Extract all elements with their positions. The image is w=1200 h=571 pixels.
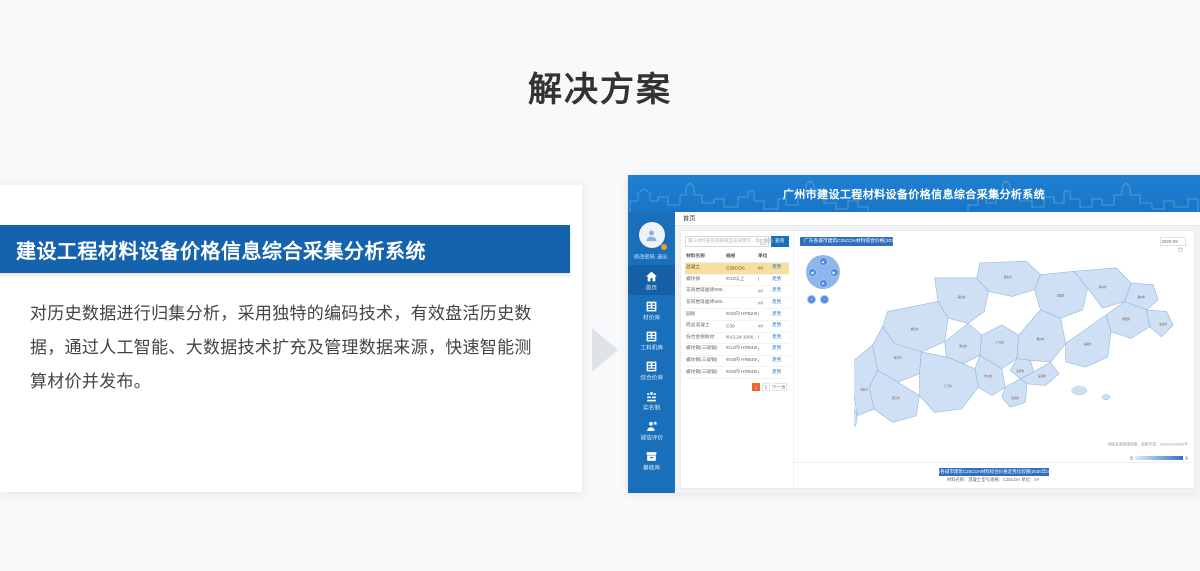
svg-text:中山市: 中山市: [985, 374, 993, 378]
svg-text:深圳市: 深圳市: [1038, 374, 1046, 378]
svg-text:汕尾市: 汕尾市: [1084, 342, 1092, 346]
table-row[interactable]: 花岗岩等面砖500... m² 走势: [685, 297, 789, 309]
sidebar-label-labor-material-machine: 工料机库: [640, 344, 663, 352]
avatar[interactable]: [628, 222, 675, 248]
svg-text:茂名市: 茂名市: [860, 388, 868, 392]
table-row[interactable]: 螺纹钢 Φ12以上 t 走势: [685, 274, 789, 286]
logout-link[interactable]: 退出: [657, 253, 667, 261]
sidebar-item-labor-material-machine[interactable]: 工料机库: [628, 325, 675, 355]
table-row[interactable]: 商品混凝土 C30 m³ 走势: [685, 320, 789, 332]
cell-unit: t: [757, 367, 772, 379]
svg-text:河源市: 河源市: [1057, 293, 1065, 297]
cell-name: 螺纹钢(三级钢): [685, 367, 725, 379]
map-pan-right-button[interactable]: ▶: [830, 268, 839, 277]
notification-badge: [661, 244, 667, 250]
page-2-button[interactable]: 2: [762, 383, 770, 391]
database-icon: [645, 300, 658, 313]
col-material-name: 材料名称: [685, 251, 725, 263]
svg-text:珠海市: 珠海市: [1011, 396, 1019, 400]
map-pan-left-button[interactable]: ◀: [808, 268, 817, 277]
search-placeholder: 输入材料名称或规格型号关键字，如：钢筋: [688, 238, 773, 244]
svg-text:潮州市: 潮州市: [1137, 295, 1145, 299]
cell-unit: m³: [757, 263, 772, 275]
svg-text:云浮市: 云浮市: [894, 356, 902, 360]
sidebar-label-base-library: 基础库: [643, 464, 660, 472]
cell-spec: C30: [725, 320, 757, 332]
material-table: 材料名称 规格 单位 混凝土 C25COA m³ 走势: [685, 251, 789, 379]
archive-icon: [645, 450, 658, 463]
search-row: 输入材料名称或规格型号关键字，如：钢筋 查询: [685, 236, 789, 247]
cell-trend-link[interactable]: 走势: [771, 297, 789, 309]
sidebar-label-composite-price: 综合价库: [640, 374, 663, 382]
solution-card-description: 对历史数据进行归集分析，采用独特的编码技术，有效盘活历史数据，通过人工智能、大数…: [30, 297, 548, 399]
cell-name: 低合金钢板材: [685, 332, 725, 344]
sidebar-item-credit-evaluation[interactable]: 诚信评价: [628, 415, 675, 445]
cell-unit: m²: [757, 286, 772, 298]
fingerprint-icon: [645, 390, 658, 403]
sidebar-item-real-name-system[interactable]: 实名制: [628, 385, 675, 415]
cell-name: 商品混凝土: [685, 320, 725, 332]
cell-unit: m²: [757, 297, 772, 309]
meta-spec: 型号规格：C25COA: [981, 477, 1019, 483]
tabbar: 首页: [675, 212, 1200, 226]
map-title: 广东各城市建筑C25COA材料综合价格(2020年09月): [800, 237, 893, 246]
cell-name: 混凝土: [685, 263, 725, 275]
table-row[interactable]: 螺纹钢(三级钢) Φ12内 HRB400 t 走势: [685, 344, 789, 356]
meta-material-name: 材料名称：混凝土: [947, 477, 981, 483]
cell-trend-link[interactable]: 走势: [771, 320, 789, 332]
cell-trend-link[interactable]: 走势: [771, 263, 789, 275]
legend-high-label: 高: [1185, 455, 1188, 460]
app-screenshot: 广州市建设工程材料设备价格信息综合采集分析系统 修改密码 退出: [628, 175, 1200, 493]
app-header-title: 广州市建设工程材料设备价格信息综合采集分析系统: [628, 175, 1200, 212]
table-row[interactable]: 螺纹钢(三级钢) Φ18内 HRB400 t 走势: [685, 355, 789, 367]
user-icon: [644, 228, 659, 243]
legend-low-label: 低: [1130, 455, 1133, 460]
bottom-summary-strip: 广东各城市建筑C25COA材料综合价格走势比较图(2020年09月) 材料名称：…: [794, 462, 1194, 488]
sidebar-item-composite-price[interactable]: 综合价库: [628, 355, 675, 385]
table-row[interactable]: 花岗岩等面砖500... m² 走势: [685, 286, 789, 298]
arrow-right-icon: [592, 328, 618, 372]
cell-name: 螺纹钢(三级钢): [685, 355, 725, 367]
next-page-button[interactable]: 下一页: [772, 383, 787, 391]
map-nav-pad: ▲ ▼ ◀ ▶ + −: [806, 255, 840, 289]
home-icon: [645, 270, 658, 283]
page-1-button[interactable]: 1: [752, 383, 760, 391]
material-list-column: 输入材料名称或规格型号关键字，如：钢筋 查询 材料名称 规格: [681, 231, 793, 488]
cell-spec: Φ13.24 1000...: [725, 332, 757, 344]
table-row[interactable]: 混凝土 C25COA m³ 走势: [685, 263, 789, 275]
cell-spec: Φ12以上: [725, 274, 757, 286]
app-header: 广州市建设工程材料设备价格信息综合采集分析系统: [628, 175, 1200, 212]
svg-text:佛山市: 佛山市: [959, 344, 967, 348]
meta-unit: 单位：m³: [1022, 477, 1040, 483]
svg-text:清远市: 清远市: [958, 295, 966, 299]
cell-name: 圆钢: [685, 309, 725, 321]
database-icon: [645, 360, 658, 373]
cell-spec: Φ10内 HPB235: [725, 309, 757, 321]
sidebar-label-home: 首页: [646, 284, 657, 292]
calendar-icon: [1178, 239, 1183, 244]
cell-unit: m³: [757, 320, 772, 332]
date-value: 2020-09: [1161, 239, 1177, 244]
table-row[interactable]: 低合金钢板材 Φ13.24 1000... t 走势: [685, 332, 789, 344]
svg-text:广州市: 广州市: [996, 341, 1004, 345]
cell-trend-link[interactable]: 走势: [771, 309, 789, 321]
col-action: [771, 251, 789, 263]
trend-chart-meta: 材料名称：混凝土 型号规格：C25COA 单位：m³: [950, 478, 1038, 483]
cell-name: 花岗岩等面砖500...: [685, 297, 725, 309]
legend-gradient: [1135, 456, 1183, 460]
cell-spec: Φ12内 HRB400: [725, 344, 757, 356]
trend-chart-title: 广东各城市建筑C25COA材料综合价格走势比较图(2020年09月): [939, 468, 1050, 476]
cell-name: 螺纹钢: [685, 274, 725, 286]
page-title: 解决方案: [0, 62, 1200, 111]
cell-spec: [725, 297, 757, 309]
guangdong-map[interactable]: 韶关市 清远市 河源市 梅州市 潮州市 肇庆市 揭阳市 汕头市 佛山市 广州市: [854, 247, 1190, 440]
cell-trend-link[interactable]: 走势: [771, 332, 789, 344]
solution-card-banner: 建设工程材料设备价格信息综合采集分析系统: [0, 225, 570, 273]
map-legend: 低 高: [1130, 455, 1188, 460]
svg-text:东莞市: 东莞市: [1016, 369, 1024, 373]
app-sidebar: 修改密码 退出 首页 材价库 工料机库: [628, 212, 675, 493]
col-unit: 单位: [757, 251, 772, 263]
cell-trend-link[interactable]: 走势: [771, 286, 789, 298]
cell-unit: t: [757, 332, 772, 344]
cell-name: 花岗岩等面砖500...: [685, 286, 725, 298]
cell-unit: t: [757, 309, 772, 321]
sidebar-label-credit-evaluation: 诚信评价: [640, 434, 663, 442]
svg-text:汕头市: 汕头市: [1159, 322, 1167, 326]
map-zoom-out-button[interactable]: −: [820, 295, 829, 304]
change-password-link[interactable]: 修改密码: [634, 253, 655, 261]
solution-card-title: 建设工程材料设备价格信息综合采集分析系统: [16, 235, 426, 264]
tab-home[interactable]: 首页: [683, 214, 695, 222]
cell-unit: t: [757, 274, 772, 286]
date-picker[interactable]: 2020-09: [1160, 237, 1186, 246]
svg-text:韶关市: 韶关市: [1004, 275, 1012, 279]
search-button[interactable]: 查询: [771, 236, 789, 247]
sidebar-item-home[interactable]: 首页: [628, 265, 675, 295]
svg-text:肇庆市: 肇庆市: [911, 327, 919, 331]
svg-text:惠州市: 惠州市: [1037, 337, 1045, 341]
map-column: 广东各城市建筑C25COA材料综合价格(2020年09月) 2020-09 ▲ …: [793, 231, 1194, 488]
sidebar-label-material-price: 材价库: [643, 314, 660, 322]
database-icon: [645, 330, 658, 343]
sidebar-item-base-library[interactable]: 基础库: [628, 445, 675, 475]
cell-trend-link[interactable]: 走势: [771, 344, 789, 356]
search-input[interactable]: 输入材料名称或规格型号关键字，如：钢筋: [685, 236, 769, 247]
map-pan-up-button[interactable]: ▲: [819, 257, 828, 266]
cell-unit: t: [757, 344, 772, 356]
cell-unit: t: [757, 355, 772, 367]
map-zoom-in-button[interactable]: +: [807, 295, 816, 304]
map-footnote: 地图来源高德地图，审图号是：GS(2016)2989号: [1121, 441, 1188, 446]
cell-spec: C25COA: [725, 263, 757, 275]
table-row[interactable]: 圆钢 Φ10内 HPB235 t 走势: [685, 309, 789, 321]
cell-name: 螺纹钢(三级钢): [685, 344, 725, 356]
sidebar-label-real-name-system: 实名制: [643, 404, 660, 412]
solution-card: 建设工程材料设备价格信息综合采集分析系统 对历史数据进行归集分析，采用独特的编码…: [0, 185, 582, 492]
table-header-row: 材料名称 规格 单位: [685, 251, 789, 263]
col-spec: 规格: [725, 251, 757, 263]
account-actions: 修改密码 退出: [628, 254, 675, 260]
sidebar-item-material-price[interactable]: 材价库: [628, 295, 675, 325]
cell-spec: Φ25内 HRB400: [725, 367, 757, 379]
cell-trend-link[interactable]: 走势: [771, 355, 789, 367]
cell-spec: Φ18内 HRB400: [725, 355, 757, 367]
cell-trend-link[interactable]: 走势: [771, 367, 789, 379]
app-content: 首页 输入材料名称或规格型号关键字，如：钢筋 查询: [675, 212, 1200, 493]
cell-spec: [725, 286, 757, 298]
pagination: 1 2 下一页: [685, 383, 789, 391]
main-panel: 输入材料名称或规格型号关键字，如：钢筋 查询 材料名称 规格: [681, 231, 1194, 488]
map-pan-down-button[interactable]: ▼: [819, 279, 828, 288]
svg-text:江门市: 江门市: [944, 384, 952, 388]
svg-text:梅州市: 梅州市: [1099, 285, 1107, 289]
table-row[interactable]: 螺纹钢(三级钢) Φ25内 HRB400 t 走势: [685, 367, 789, 379]
svg-text:阳江市: 阳江市: [892, 396, 900, 400]
cell-trend-link[interactable]: 走势: [771, 274, 789, 286]
svg-text:揭阳市: 揭阳市: [1122, 317, 1130, 321]
user-star-icon: [645, 420, 658, 433]
